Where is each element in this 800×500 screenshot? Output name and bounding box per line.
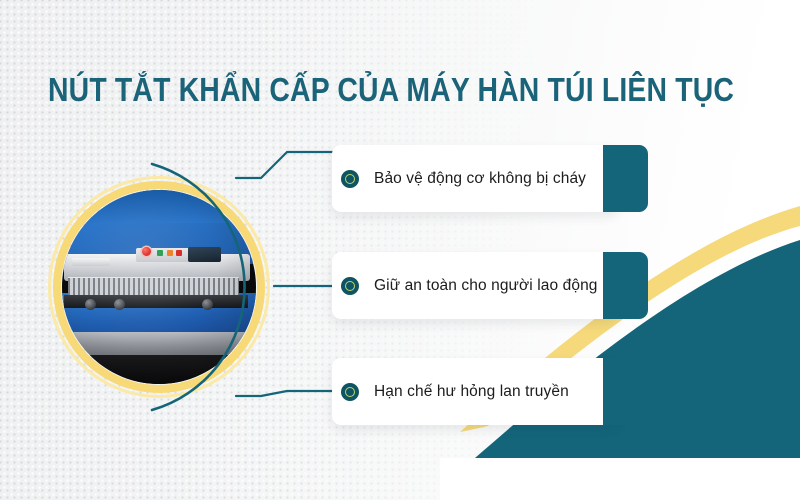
card-accent-tab [603,358,648,425]
benefit-label-2: Giữ an toàn cho người lao động [374,252,604,319]
bullet-circle-icon [341,170,359,188]
bullet-circle-icon [341,277,359,295]
photo-image-sealing-machine [62,190,256,384]
infographic-canvas: NÚT TẮT KHẨN CẤP CỦA MÁY HÀN TÚI LIÊN TỤ… [0,0,800,500]
benefit-card-3[interactable]: Hạn chế hư hỏng lan truyền [332,358,648,425]
card-accent-tab [603,145,648,212]
benefit-label-3: Hạn chế hư hỏng lan truyền [374,358,604,425]
corner-swoosh-decoration [440,200,800,500]
page-title: NÚT TẮT KHẨN CẤP CỦA MÁY HÀN TÚI LIÊN TỤ… [48,70,650,110]
bullet-circle-icon [341,383,359,401]
benefit-card-1[interactable]: Bảo vệ động cơ không bị cháy [332,145,648,212]
card-accent-tab [603,252,648,319]
benefit-label-1: Bảo vệ động cơ không bị cháy [374,145,604,212]
benefit-card-2[interactable]: Giữ an toàn cho người lao động [332,252,648,319]
product-photo [48,176,270,398]
